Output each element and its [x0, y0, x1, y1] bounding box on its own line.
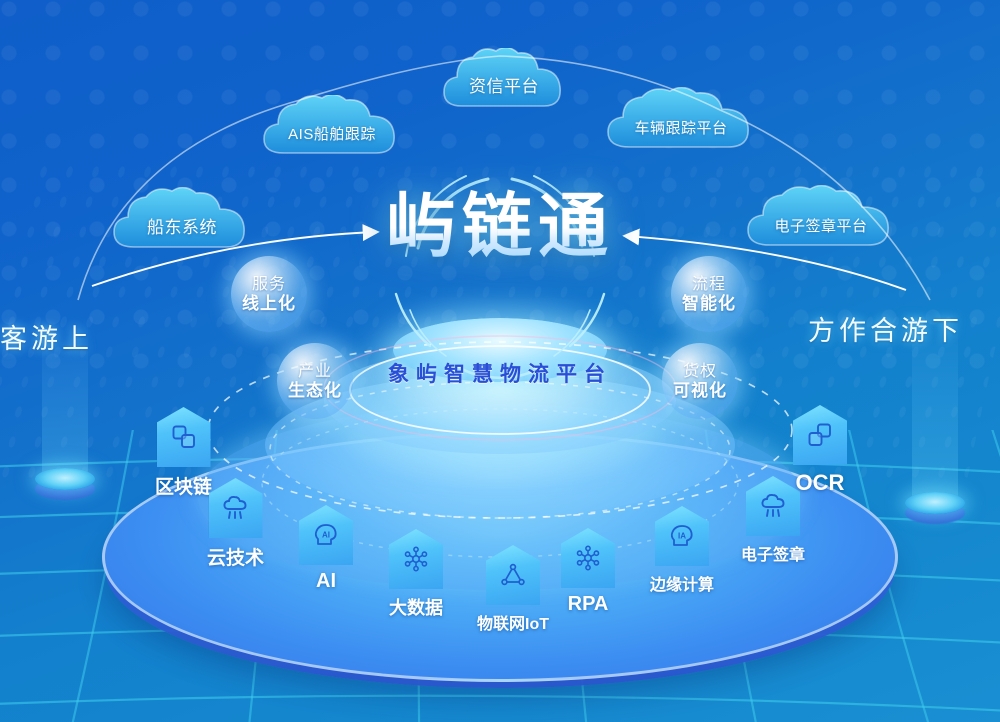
tech-item-blockchain[interactable]: 区块链 — [155, 407, 212, 499]
triangle-node-icon — [500, 563, 526, 587]
tech-item-cloud-tech[interactable]: 云技术 — [207, 478, 264, 570]
ia-head-icon: IA — [669, 523, 695, 549]
tech-label: AI — [316, 570, 336, 593]
bubble-service-online[interactable]: 服务 线上化 — [231, 256, 307, 332]
tech-label: 边缘计算 — [650, 571, 714, 595]
infographic-canvas: 上游客户 下游合作方 船东系统 AIS船舶跟踪 资信平台 — [0, 0, 1000, 722]
bubble-line1: 服务 — [252, 275, 286, 294]
overlapping-squares-icon — [171, 424, 197, 450]
cloud-rain-icon — [760, 493, 787, 519]
pillar-base-glow — [35, 468, 95, 490]
bubble-line2: 智能化 — [682, 294, 736, 314]
tech-item-ocr[interactable]: OCR — [793, 405, 847, 496]
svg-text:AI: AI — [322, 531, 330, 540]
bubble-line2: 生态化 — [288, 381, 342, 401]
tech-label: 物联网IoT — [477, 610, 549, 634]
tech-item-edge-compute[interactable]: IA 边缘计算 — [650, 506, 714, 595]
hex-badge: IA — [655, 506, 709, 566]
hex-badge — [389, 529, 443, 589]
bubble-line1: 产业 — [298, 362, 332, 381]
bubble-line1: 货权 — [683, 362, 717, 381]
tech-label: 云技术 — [207, 543, 264, 570]
cloud-rain-icon — [222, 495, 249, 521]
bubble-line1: 流程 — [692, 275, 726, 294]
bubble-industry-ecology[interactable]: 产业 生态化 — [277, 343, 353, 419]
tech-item-rpa[interactable]: RPA — [561, 528, 615, 616]
tech-label: 电子签章 — [741, 541, 805, 565]
hex-badge: AI — [299, 505, 353, 565]
hex-badge — [793, 405, 847, 465]
tech-item-ai[interactable]: AI AI — [299, 505, 353, 593]
tech-item-iot[interactable]: 物联网IoT — [477, 545, 549, 634]
platform-logo: 屿链通 — [290, 186, 710, 266]
tech-label: 大数据 — [389, 594, 443, 620]
data-node-icon — [575, 545, 601, 571]
overlapping-squares-icon — [807, 422, 833, 448]
tech-label: RPA — [568, 593, 609, 616]
hex-badge — [561, 528, 615, 588]
bubble-cargo-visible[interactable]: 货权 可视化 — [662, 343, 738, 419]
svg-text:IA: IA — [678, 532, 686, 541]
bubble-line2: 可视化 — [673, 381, 727, 401]
ai-head-icon: AI — [313, 522, 339, 548]
bubble-line2: 线上化 — [242, 294, 296, 314]
hex-badge — [746, 476, 800, 536]
hex-badge — [157, 407, 211, 467]
hex-badge — [486, 545, 540, 605]
pillar-base-glow — [905, 492, 965, 514]
tech-label: OCR — [796, 470, 845, 496]
logo-text: 屿链通 — [290, 186, 710, 266]
bubble-process-intelligent[interactable]: 流程 智能化 — [671, 256, 747, 332]
platform-subtitle: 象屿智慧物流平台 — [388, 358, 612, 388]
tech-label: 区块链 — [155, 472, 212, 499]
tech-item-big-data[interactable]: 大数据 — [389, 529, 443, 620]
data-node-icon — [403, 546, 429, 572]
hex-badge — [209, 478, 263, 538]
